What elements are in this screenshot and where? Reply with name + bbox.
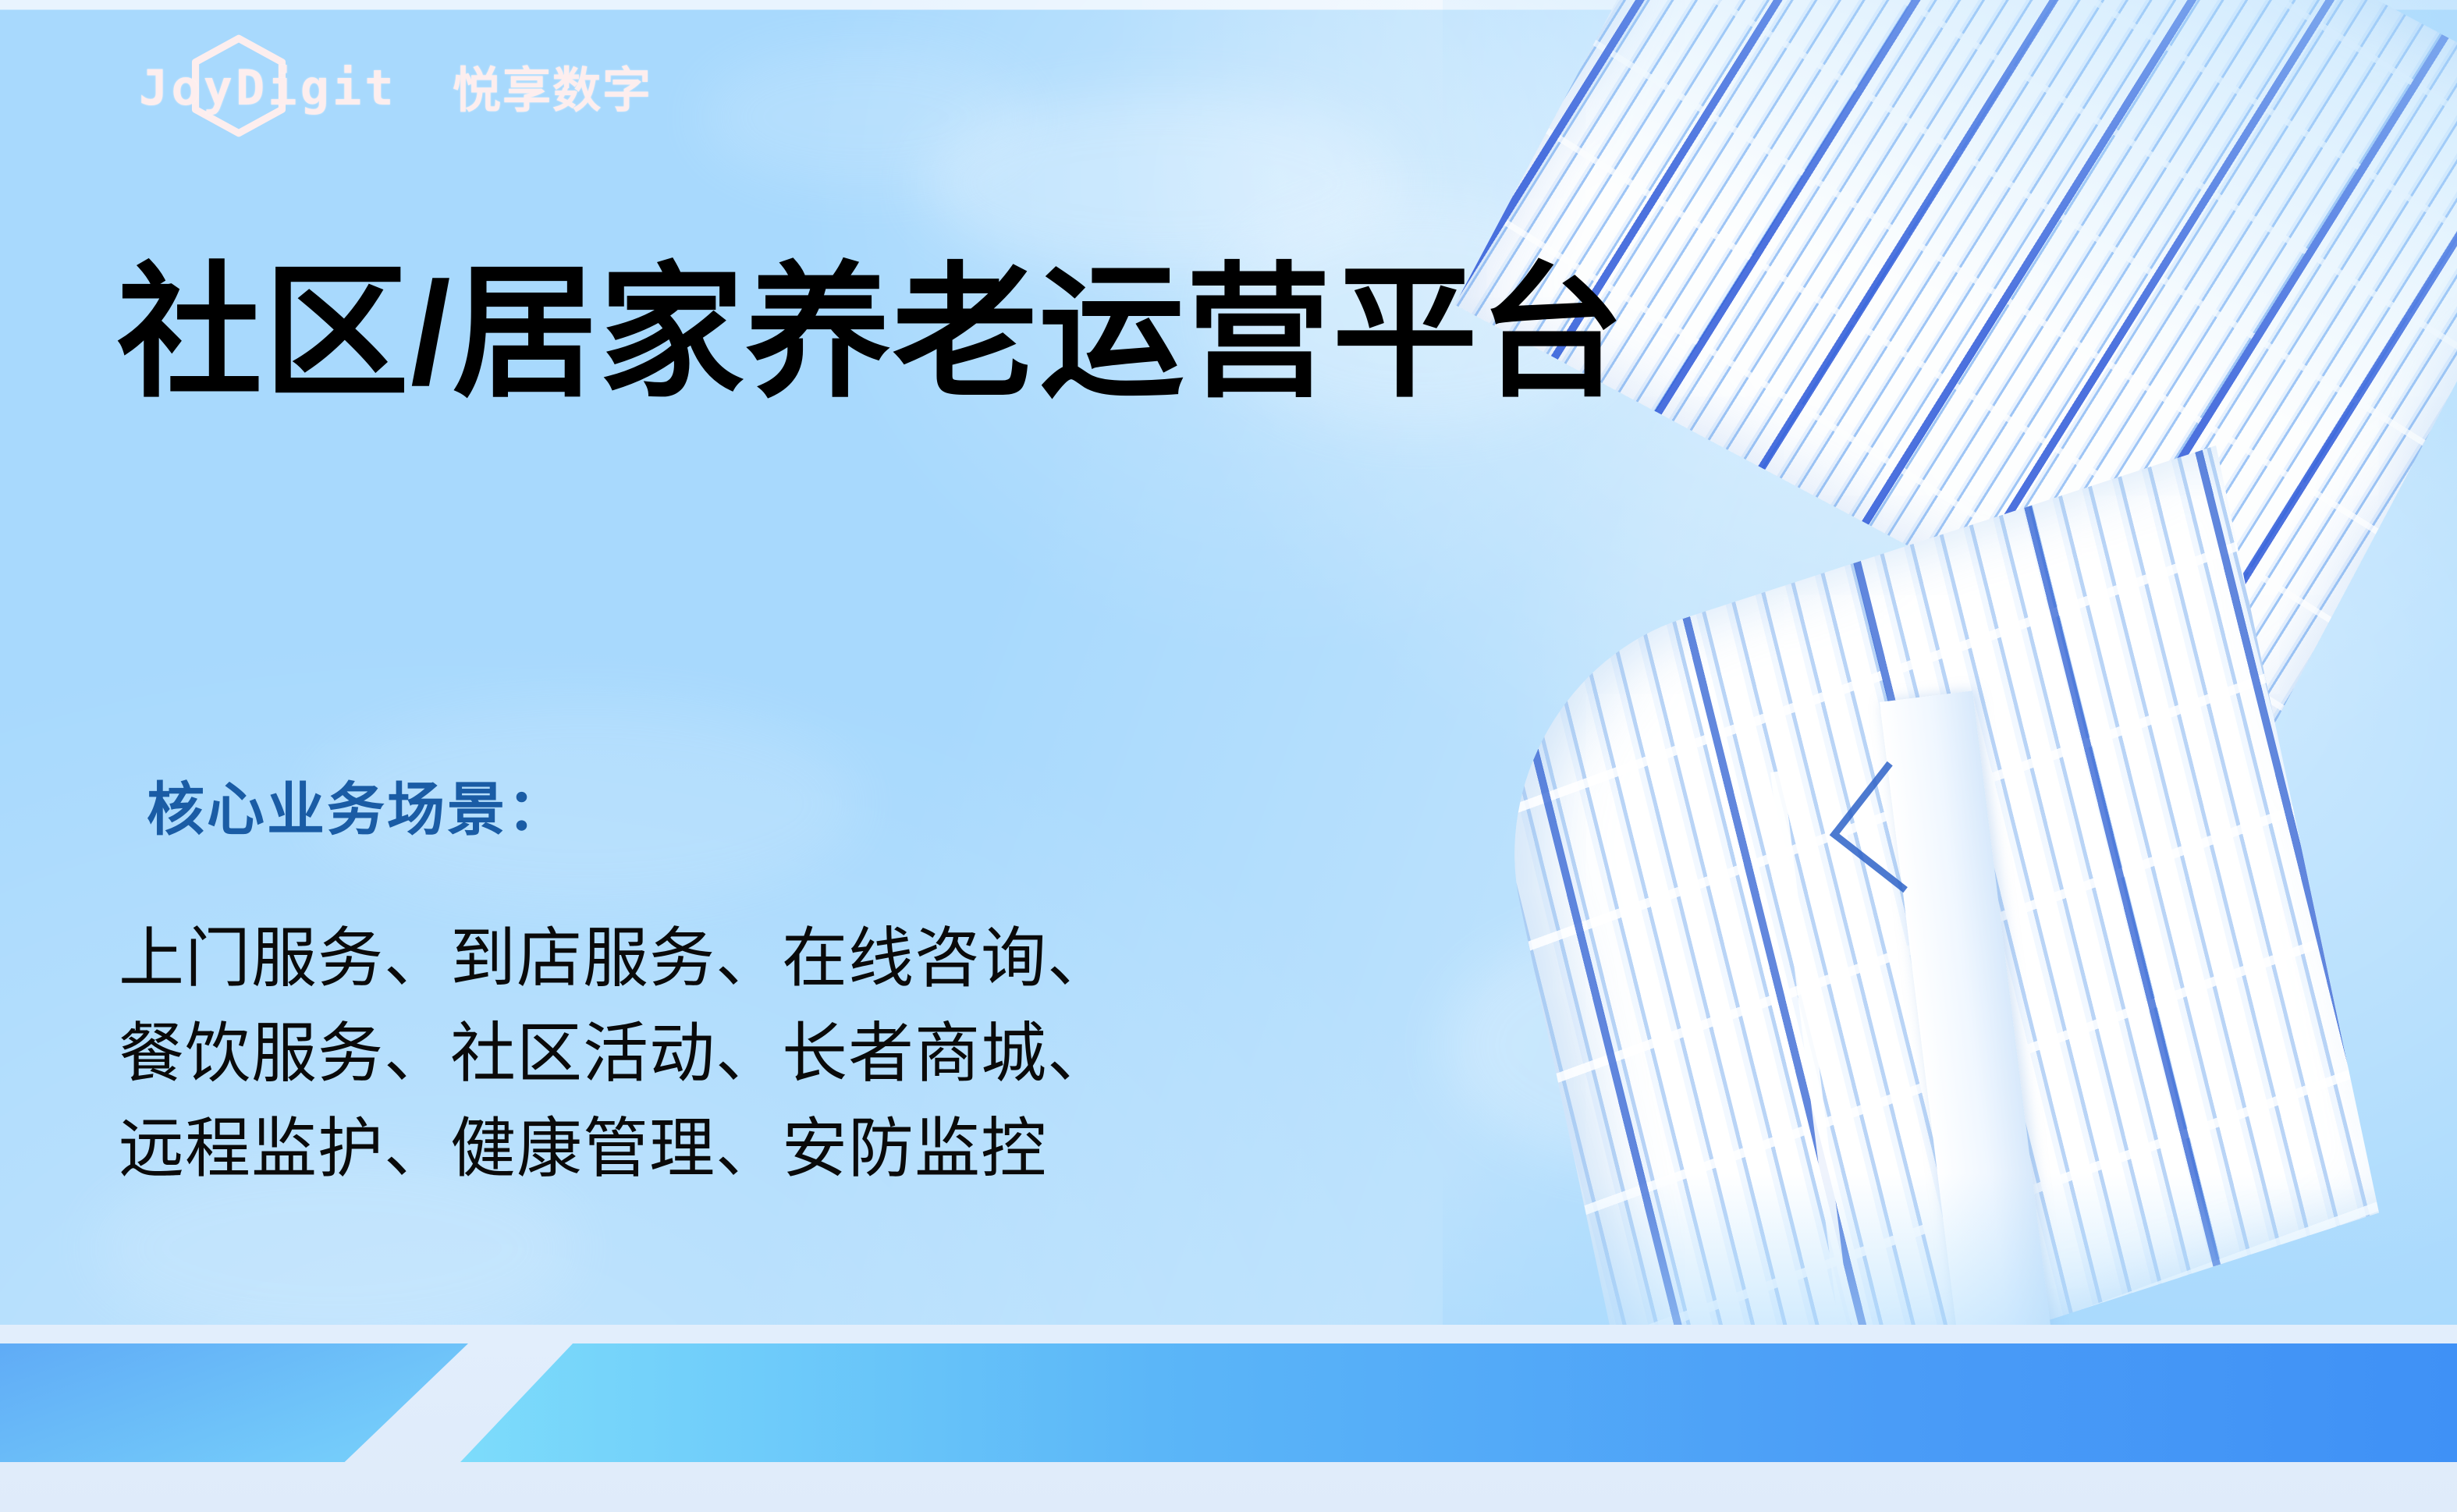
skyscraper-photo	[1443, 0, 2457, 1397]
scenario-list: 上门服务、到店服务、在线咨询、 餐饮服务、社区活动、长者商城、 远程监护、健康管…	[119, 911, 1113, 1196]
logo-latin-text: JoyDigit	[139, 59, 397, 116]
bottom-decorative-band	[0, 1325, 2457, 1512]
page-title: 社区/居家养老运营平台	[117, 257, 1626, 410]
scenario-line: 远程监护、健康管理、安防监控	[119, 1102, 1113, 1197]
brand-logo: JoyDigit 悦享数字	[139, 31, 652, 140]
section-heading: 核心业务场景：	[147, 763, 567, 847]
logo-chinese-text: 悦享数字	[453, 51, 652, 121]
slide-root: JoyDigit 悦享数字 社区/居家养老运营平台 核心业务场景： 上门服务、到…	[0, 0, 2457, 1512]
scenario-line: 上门服务、到店服务、在线咨询、	[119, 911, 1113, 1006]
logo-mark: JoyDigit	[139, 31, 318, 140]
band-right-parallelogram	[460, 1343, 2457, 1462]
scenario-line: 餐饮服务、社区活动、长者商城、	[119, 1006, 1113, 1102]
band-left-parallelogram	[0, 1343, 468, 1462]
